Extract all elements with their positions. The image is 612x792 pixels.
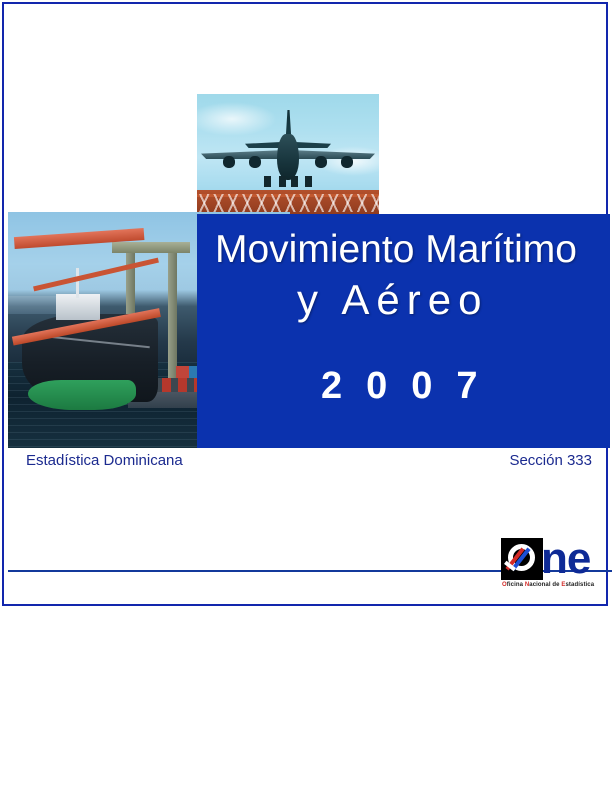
tagline-ficina: ficina: [507, 582, 525, 588]
airplane-fuselage: [277, 134, 299, 180]
airplane-landing-gear: [305, 176, 312, 187]
publication-year: 2007: [321, 365, 502, 408]
airplane-stabilizer-right: [295, 142, 331, 148]
page-title-primary: Movimiento Marítimo: [215, 228, 577, 272]
cloud-shape: [197, 102, 277, 136]
airplane-landing-photo: [197, 94, 379, 216]
cargo-ship-green-hull: [28, 380, 136, 410]
truss-lattice: [197, 194, 379, 212]
airplane-landing-gear: [279, 176, 286, 187]
one-circle-mark-icon: [501, 538, 543, 580]
red-crane-brace: [33, 258, 159, 292]
section-label: Sección 333: [509, 452, 592, 469]
logo-wordmark: ne: [541, 534, 590, 584]
airplane-stabilizer-left: [245, 142, 281, 148]
caption-row: Estadística Dominicana Sección 333: [8, 452, 606, 480]
airplane-engine: [223, 156, 235, 168]
tagline-stadistica: stadística: [566, 582, 595, 588]
cover-page-frame: Movimiento Marítimo y Aéreo 2007 Estadís…: [2, 2, 608, 606]
tagline-acional: acional de: [529, 582, 561, 588]
airplane-wing-left: [201, 150, 287, 159]
logo-tagline: Oficina Nacional de Estadística: [502, 582, 594, 588]
cargo-ship-mast: [76, 268, 79, 298]
page-title-secondary: y Aéreo: [297, 276, 488, 324]
series-label: Estadística Dominicana: [26, 452, 183, 469]
airplane-landing-gear: [291, 176, 298, 187]
gantry-crane-beam: [112, 242, 190, 253]
airplane-engine: [249, 156, 261, 168]
airplane-engine: [341, 156, 353, 168]
airplane-landing-gear: [264, 176, 271, 187]
airplane-engine: [315, 156, 327, 168]
one-logo: ne Oficina Nacional de Estadística: [501, 535, 601, 599]
title-banner: Movimiento Marítimo y Aéreo 2007: [197, 214, 610, 448]
